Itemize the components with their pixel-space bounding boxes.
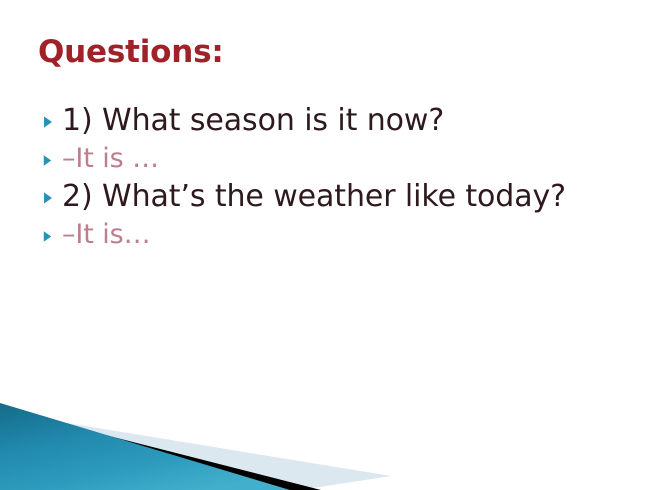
triangle-right-icon xyxy=(40,101,62,130)
triangle-right-icon xyxy=(40,177,62,206)
pale-wedge xyxy=(0,412,391,490)
slide-canvas: Questions: 1) What season is it now? –It… xyxy=(0,0,653,490)
list-item: 1) What season is it now? xyxy=(40,101,585,141)
list-item-label: 1) What season is it now? xyxy=(62,101,585,141)
bottom-left-angled-banner xyxy=(0,390,653,490)
list-item-label: 2) What’s the weather like today? xyxy=(62,177,585,217)
list-item-label: –It is … xyxy=(62,141,585,177)
list-item-label: –It is… xyxy=(62,217,585,253)
list-item: –It is … xyxy=(40,141,585,177)
list-item: 2) What’s the weather like today? xyxy=(40,177,585,217)
slide-body-list: 1) What season is it now? –It is … 2) Wh… xyxy=(40,101,585,253)
triangle-right-icon xyxy=(40,141,62,168)
triangle-right-icon xyxy=(40,217,62,244)
teal-triangle xyxy=(0,403,290,490)
black-wedge xyxy=(0,408,321,490)
slide-title: Questions: xyxy=(38,34,224,70)
list-item: –It is… xyxy=(40,217,585,253)
